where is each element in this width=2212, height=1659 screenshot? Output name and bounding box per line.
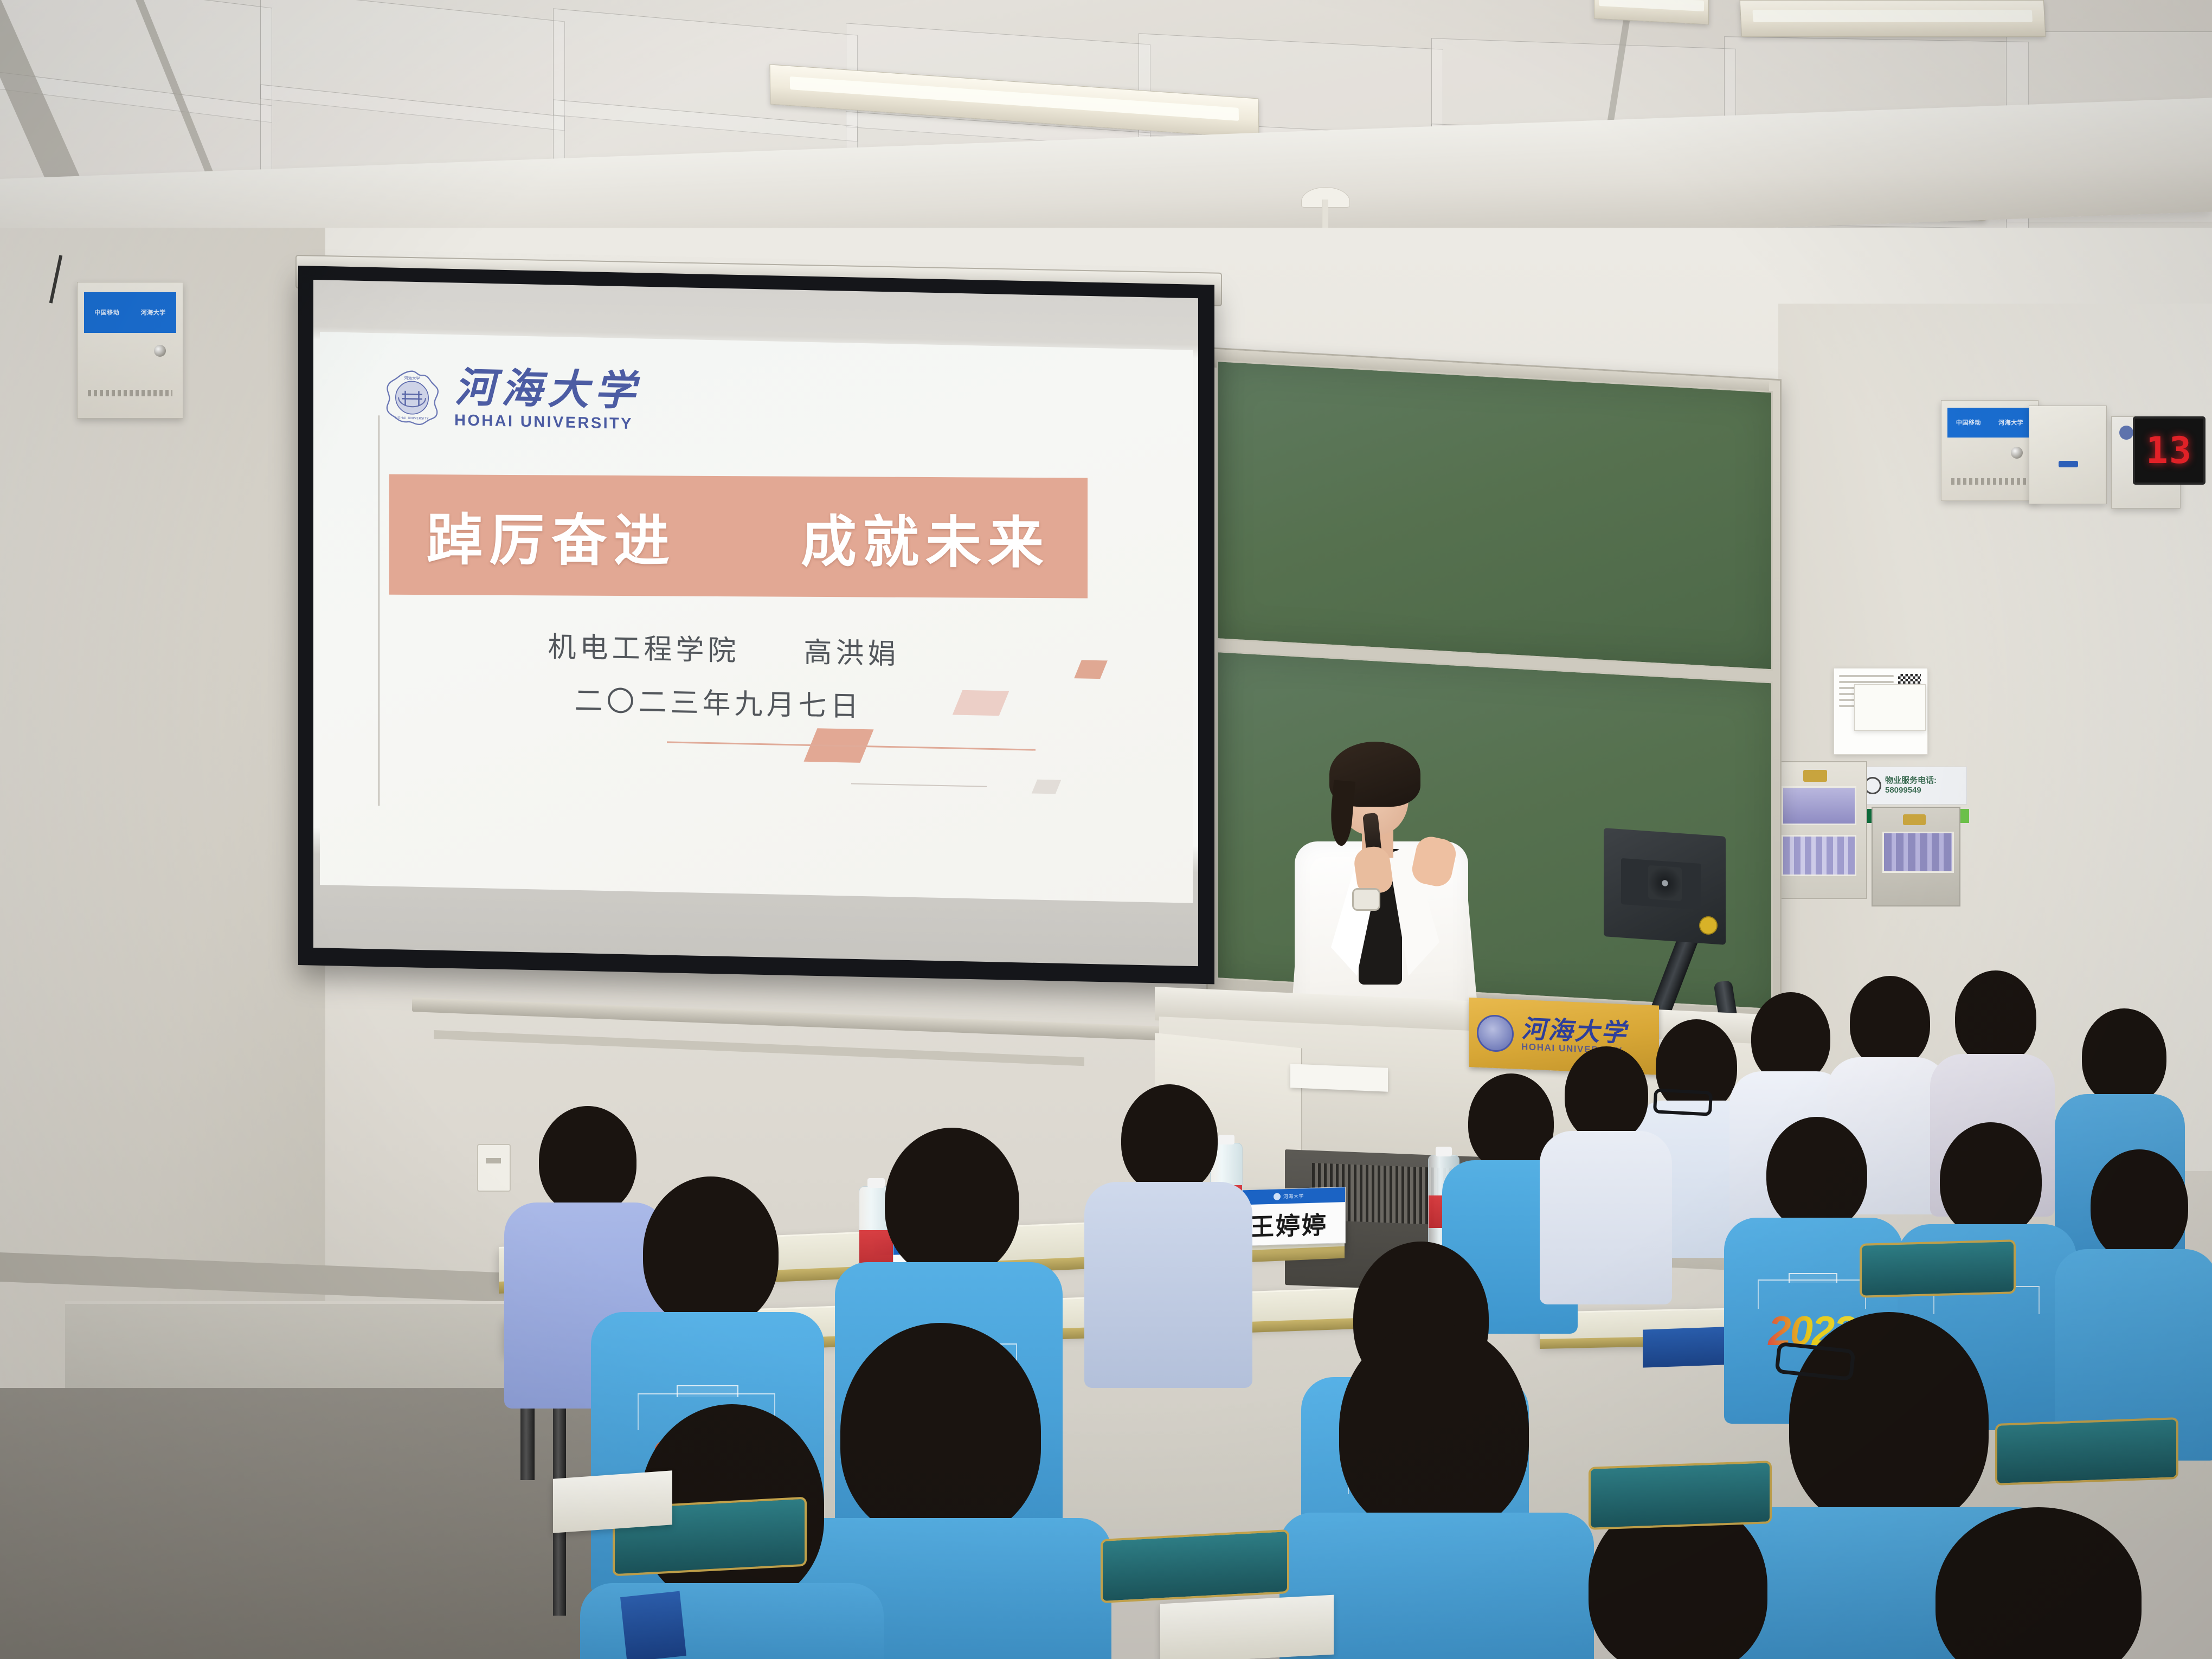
auditorium-chair[interactable]: [1589, 1461, 1772, 1530]
uniform-campus-graphic: [1758, 1279, 1866, 1309]
hohai-logo-icon: [2119, 426, 2133, 440]
slide-title-band: 踔厉奋进 成就未来: [389, 474, 1088, 599]
cooling-fan-icon: [1648, 865, 1682, 901]
panel-latch: [1903, 814, 1926, 825]
audience-member-front: [1860, 1507, 2207, 1659]
service-phone-number: 58099549: [1885, 786, 1921, 795]
panel-latch: [1803, 770, 1827, 782]
open-notebook: [553, 1470, 672, 1533]
podium-papers: [1290, 1064, 1388, 1092]
slide-department-presenter: 机电工程学院 高洪娟: [320, 619, 1128, 677]
wall-box-footer-text: [1951, 478, 2028, 485]
slide-accent-line: [378, 415, 380, 806]
slide-decor-rule: [851, 783, 987, 787]
network-wall-box: [2029, 406, 2107, 504]
presentation-slide: 河海大学 HOHAI UNIVERSITY 河海大学 HOHAI UNIVERS…: [320, 332, 1193, 903]
led-digital-display: 13: [2133, 416, 2205, 485]
auditorium-chair[interactable]: [1860, 1239, 2016, 1298]
slide-decor-diamond: [953, 690, 1009, 716]
svg-text:HOHAI UNIVERSITY: HOHAI UNIVERSITY: [395, 416, 429, 420]
slide-university-name-cn: 河海大学: [454, 367, 641, 412]
lock-icon: [154, 345, 166, 357]
slide-decor-diamond: [1032, 780, 1062, 794]
open-notebook: [1160, 1595, 1334, 1659]
audience-member: [1540, 1046, 1672, 1301]
audience-member-uniform: [2055, 1149, 2212, 1453]
china-mobile-wall-box-right: 中国移动 河海大学: [1941, 400, 2039, 501]
classroom-photo-scene: 中国移动 河海大学 中国移动 河海大学 河海大学 13 物业服务电话: 5809…: [0, 0, 2212, 1659]
podium-plaque-seal-icon: [1477, 1014, 1514, 1053]
china-mobile-wall-box: 中国移动 河海大学: [77, 282, 183, 419]
wall-notice-small: [1854, 684, 1926, 731]
service-phone-sticker: 物业服务电话: 58099549: [1859, 767, 1967, 805]
svg-text:河海大学: 河海大学: [404, 375, 420, 381]
hohai-university-logo: 河海大学 HOHAI UNIVERSITY 河海大学 HOHAI UNIVERS…: [384, 365, 641, 433]
wall-box-brand-label: 中国移动: [1956, 418, 1981, 427]
hohai-seal-icon: 河海大学 HOHAI UNIVERSITY: [384, 369, 440, 426]
ceiling-light-fixture: [1740, 0, 2046, 37]
electrical-breaker-panel-left: [1769, 761, 1867, 899]
network-brand-mark: [2059, 461, 2078, 467]
wristwatch-icon: [1352, 888, 1380, 911]
electrical-breaker-panel-right: [1872, 807, 1960, 906]
wall-box-org-label: 河海大学: [1998, 418, 2023, 427]
wall-box-brand-label: 中国移动: [94, 308, 119, 317]
service-phone-label: 物业服务电话:: [1885, 776, 1937, 785]
wall-box-footer-text: [88, 390, 172, 396]
slide-university-name-en: HOHAI UNIVERSITY: [454, 411, 641, 433]
eyeglasses-icon: [1653, 1088, 1713, 1116]
monitor-arm-badge: [1699, 916, 1718, 935]
auditorium-chair[interactable]: [1101, 1529, 1289, 1603]
auditorium-chair[interactable]: [1995, 1417, 2178, 1486]
blue-folder: [1643, 1327, 1724, 1367]
led-display-value: 13: [2146, 429, 2192, 472]
chalkboard-panel-upper[interactable]: [1217, 360, 1773, 671]
name-card-logo-text: 河海大学: [1283, 1192, 1304, 1200]
blue-booklet: [620, 1591, 686, 1659]
slide-title: 踔厉奋进 成就未来: [389, 474, 1088, 599]
wall-box-org-label: 河海大学: [141, 308, 166, 317]
lock-icon: [2011, 447, 2023, 459]
